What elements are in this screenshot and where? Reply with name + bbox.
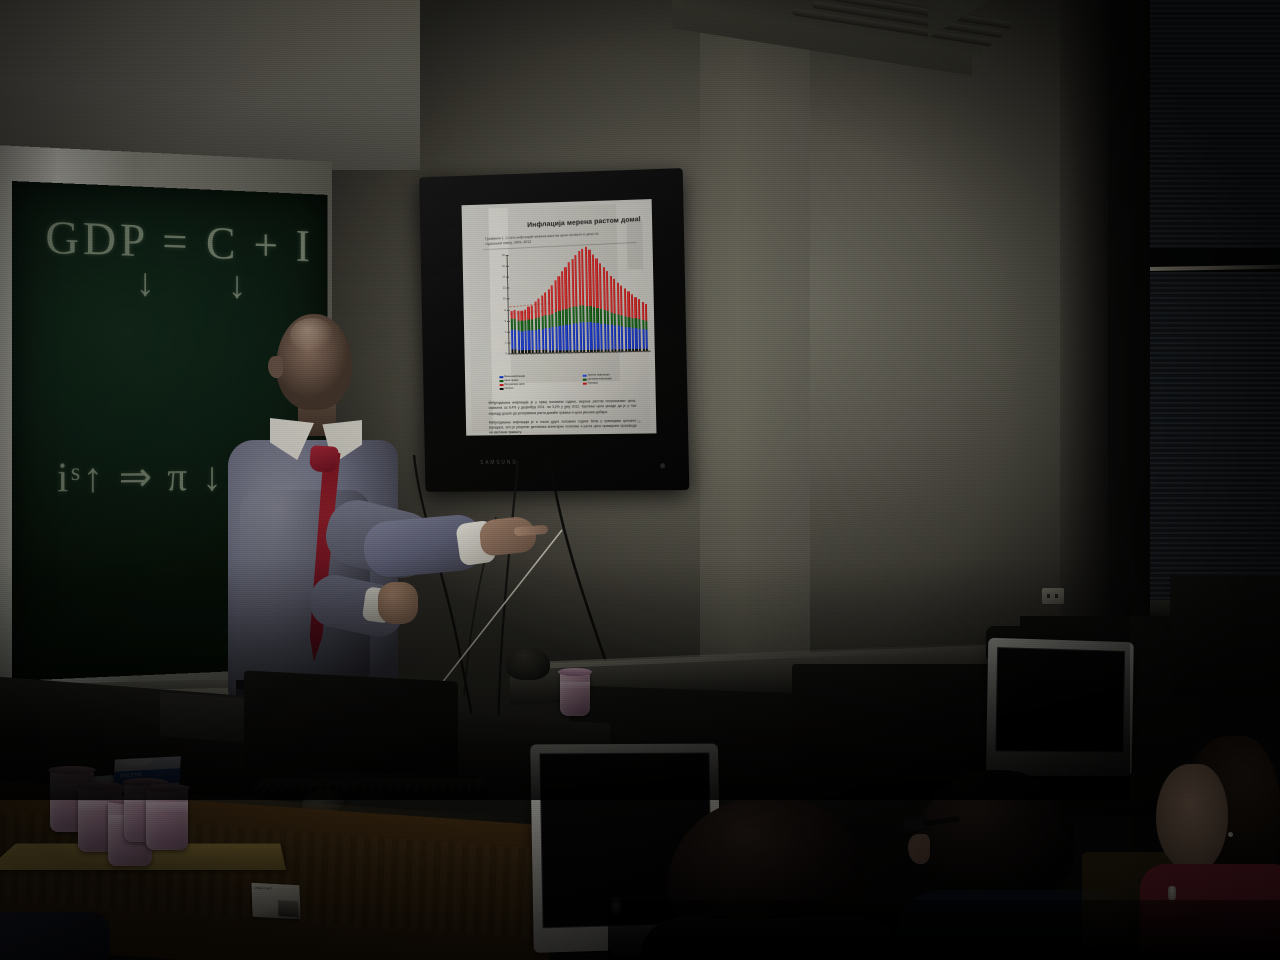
chart-bar-segment	[521, 321, 523, 331]
desk-sticker: ИНФО ПУЛТ	[251, 883, 300, 920]
slide-page-number: 14	[637, 420, 640, 424]
chart-bar	[514, 310, 517, 353]
chart-bar-segment	[638, 319, 640, 328]
chart-bar-segment	[602, 267, 605, 310]
chart-bar-segment	[596, 308, 598, 323]
chart-bar-segment	[589, 306, 591, 322]
chart-bar-segment	[606, 271, 609, 311]
chart-bar-segment	[517, 320, 519, 330]
chart-bar-segment	[600, 323, 603, 349]
chart-bar-segment	[548, 290, 551, 315]
chart-bar-segment	[593, 307, 595, 322]
chart-bar-segment	[545, 328, 548, 350]
chart-bar-segment	[566, 325, 569, 350]
chart-bar-segment	[624, 289, 627, 317]
chart-plot-area	[509, 251, 649, 353]
chart-bar-segment	[524, 331, 527, 350]
necktie-knot	[309, 445, 339, 473]
chart-bar-segment	[627, 291, 630, 316]
chart-bar-segment	[514, 310, 516, 319]
chart-bar-segment	[535, 330, 538, 350]
chalk-equation-line2: iˢ↑ ⇒ π ↓	[57, 452, 224, 502]
chart-bar-segment	[635, 318, 637, 328]
chart-bar-segment	[552, 327, 555, 350]
chart-bar-segment	[579, 306, 581, 323]
chart-bar-segment	[531, 330, 534, 350]
chart-bar-segment	[645, 321, 647, 330]
chart-bar-segment	[634, 297, 637, 319]
chart-bar-segment	[631, 295, 634, 318]
chart-bar-segment	[551, 285, 554, 314]
chart-bar	[521, 310, 524, 353]
chart-bar-segment	[617, 314, 619, 326]
chart-bar-segment	[545, 315, 547, 328]
chart-bar-segment	[528, 330, 531, 350]
chart-bar-segment	[524, 309, 526, 320]
legend-color-swatch	[583, 379, 586, 382]
chart-bar-segment	[548, 328, 551, 351]
eyeglasses-icon	[902, 816, 962, 832]
chart-bar-segment	[558, 311, 560, 326]
chart-bar-segment	[576, 306, 578, 323]
chart-bar-segment	[514, 330, 517, 350]
audience-ear	[908, 834, 930, 864]
chart-bar-segment	[607, 311, 609, 324]
chart-bar	[524, 309, 527, 353]
chart-bar-segment	[586, 306, 588, 322]
chart-bar-segment	[565, 309, 567, 325]
chart-x-axis-labels: I 2008IIIIIIVVVIVIIVIIIIXXXIXIII 2009III…	[511, 352, 650, 366]
chart-bar-segment	[613, 279, 616, 313]
chart-x-label: V	[526, 353, 529, 356]
chart-bar-segment	[554, 281, 557, 313]
chart-bar-segment	[542, 329, 545, 350]
ceiling-light-fixture	[672, 0, 1012, 80]
chart-bar-segment	[524, 320, 526, 330]
chart-bar-segment	[541, 316, 543, 329]
chart-bar-segment	[646, 330, 649, 349]
chart-bar-segment	[562, 310, 564, 325]
chart-bar-segment	[620, 285, 623, 315]
chart-bar-segment	[538, 317, 540, 329]
legend-color-swatch	[583, 383, 586, 386]
chart-bar-segment	[607, 324, 610, 349]
chart-bar-segment	[572, 324, 575, 350]
equipment-cabinet	[1170, 576, 1280, 696]
chart-bar-segment	[548, 315, 550, 328]
chart-bar-segment	[537, 299, 539, 318]
chart-bar-segment	[625, 327, 628, 349]
chart-bar-segment	[538, 329, 541, 350]
chart-bar-segment	[600, 309, 602, 323]
chart-bar-segment	[642, 320, 644, 329]
chart-bar	[517, 311, 520, 353]
chart-x-label: IV	[647, 350, 651, 353]
chart-bar-segment	[531, 320, 533, 331]
chart-bar-segment	[521, 331, 523, 350]
chart-bar-segment	[562, 325, 565, 350]
chart-bar-segment	[541, 295, 544, 316]
jacket-zipper	[1168, 886, 1176, 900]
chart-bar-segment	[611, 325, 614, 349]
chart-bar-segment	[604, 324, 607, 349]
chart-bar-segment	[561, 272, 564, 310]
slide-chart: 024681012141618 I 2008IIIIIIVVVIVIIVIIII…	[493, 251, 651, 371]
chart-bar-segment	[610, 276, 613, 312]
chart-bar-segment	[621, 315, 623, 326]
chart-legend-item: Коридор	[583, 381, 612, 385]
chart-bar-segment	[593, 323, 596, 350]
chart-bar-segment	[624, 316, 626, 327]
foreground-object	[0, 912, 110, 960]
chart-bar-segment	[528, 319, 530, 330]
chart-bar-segment	[614, 325, 617, 349]
chart-bar-segment	[586, 322, 589, 350]
chart-bar-segment	[617, 282, 620, 314]
chart-bar-segment	[642, 329, 645, 348]
chart-bar-segment	[579, 322, 582, 350]
chart-bar-segment	[518, 331, 520, 350]
chart-bar-segment	[641, 302, 644, 320]
chart-bar-segment	[569, 308, 571, 325]
chart-bar-segment	[552, 314, 554, 328]
chart-legend: Базна инфлацијаЦене хранеРегулисане цене…	[499, 373, 645, 397]
chart-bar-segment	[631, 318, 633, 328]
chart-bar-segment	[603, 310, 605, 324]
chart-bar-segment	[534, 302, 536, 318]
lecturer-ear	[268, 356, 283, 378]
chart-bar-segment	[534, 318, 536, 330]
chart-bar-segment	[517, 311, 519, 320]
chart-bar-segment	[632, 328, 635, 349]
chart-bar-segment	[558, 276, 561, 311]
foreground-shadow	[608, 900, 1280, 960]
chart-bar-segment	[628, 327, 631, 349]
chart-bar-segment	[521, 310, 523, 320]
earring	[1228, 832, 1233, 837]
chart-bar-segment	[569, 324, 572, 350]
chart-bar-segment	[590, 322, 593, 350]
lecture-hall-photo: GDP = C + I + G ↓ ↓ iˢ↑ ⇒ π ↓ Инфлација …	[0, 0, 1280, 960]
chart-bar-segment	[635, 328, 638, 348]
audience-face	[1156, 764, 1228, 872]
chart-bar-segment	[645, 304, 647, 321]
legend-color-swatch	[583, 375, 586, 378]
chart-bar-segment	[583, 322, 586, 350]
chart-bar-segment	[531, 305, 533, 319]
chart-bar	[645, 304, 648, 350]
chart-bar-segment	[576, 323, 579, 350]
chart-bar-segment	[572, 307, 574, 324]
chart-bar-segment	[628, 317, 630, 328]
chart-bar-segment	[582, 306, 584, 323]
chart-bar-segment	[564, 267, 567, 309]
chart-bar-segment	[614, 313, 616, 325]
chart-bar-segment	[610, 312, 612, 325]
chart-bar-segment	[514, 319, 516, 330]
head-highlight	[290, 318, 334, 352]
chart-bar-segment	[621, 326, 624, 349]
sticker-text: ИНФО ПУЛТ	[251, 883, 299, 893]
chart-bar-segment	[527, 307, 529, 319]
chart-bar-segment	[559, 326, 562, 350]
sticker-graphic	[278, 900, 299, 917]
chart-bar-segment	[544, 292, 547, 315]
chart-bar-segment	[555, 312, 557, 326]
wall-shadow	[0, 560, 1130, 800]
chart-bar-segment	[638, 299, 641, 319]
chart-bar-segment	[618, 326, 621, 349]
legend-label: Коридор	[588, 382, 598, 386]
